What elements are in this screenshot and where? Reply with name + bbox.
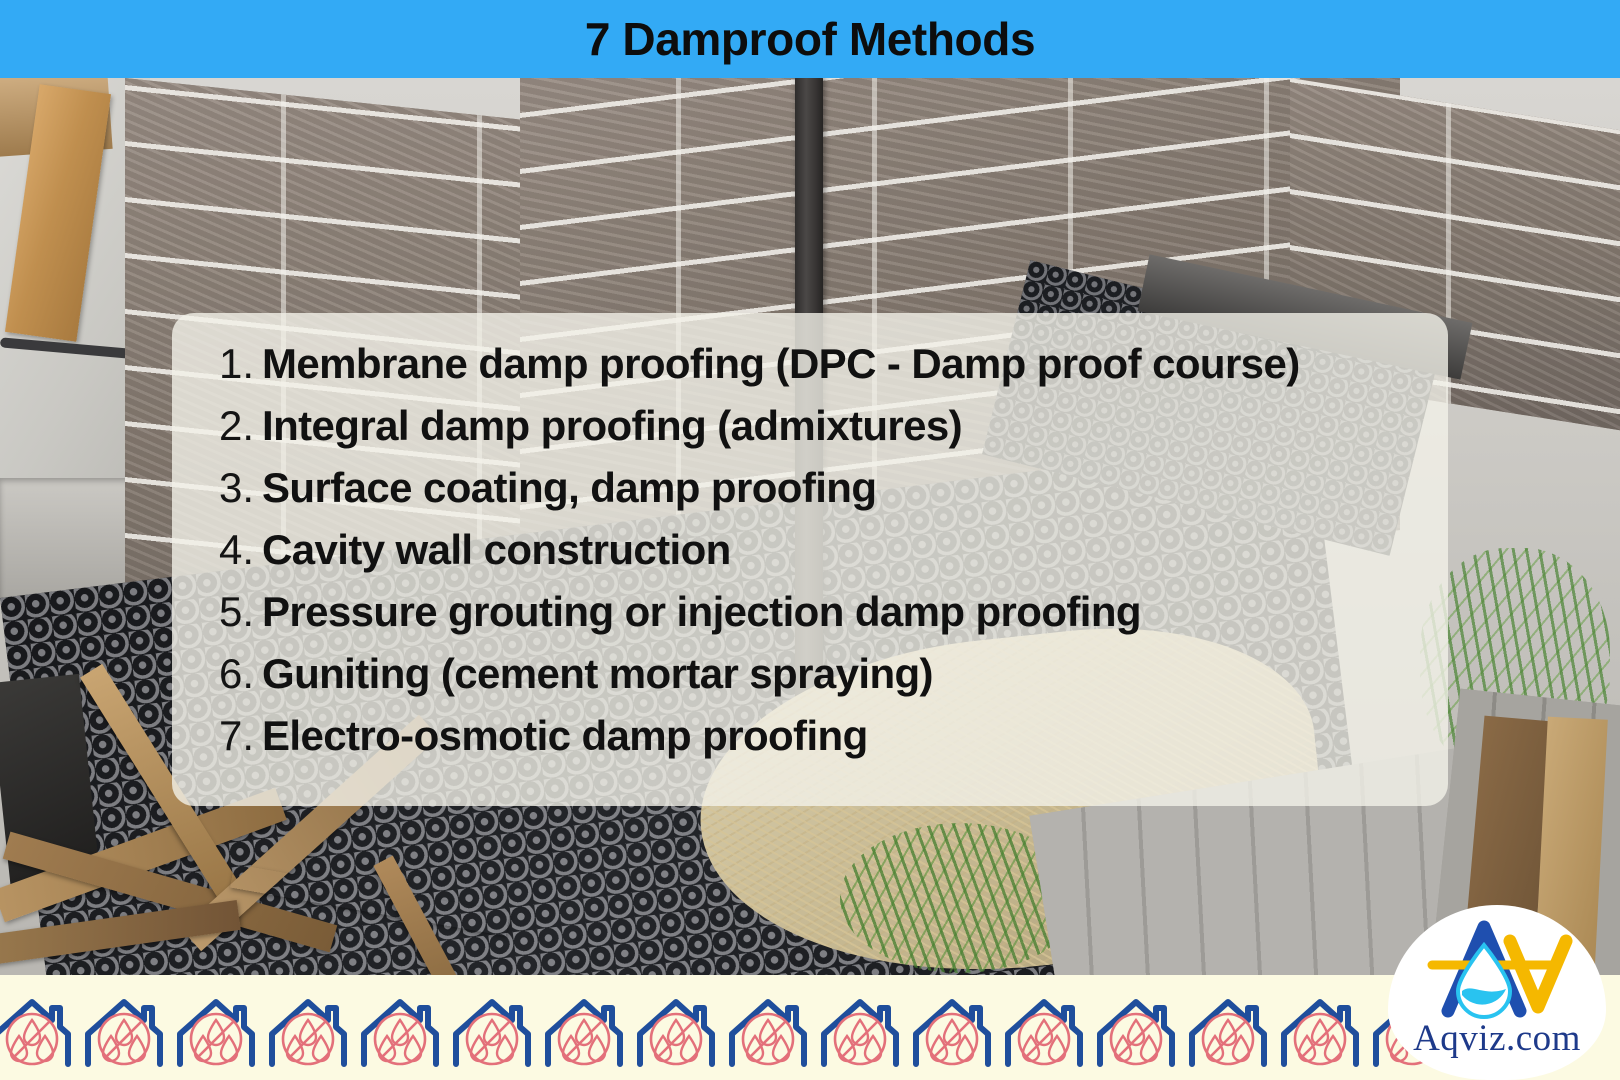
no-damp-house-glyph <box>1182 984 1274 1072</box>
no-damp-house-glyph <box>1090 984 1182 1072</box>
no-damp-house-icon <box>814 984 906 1072</box>
logo-svg <box>1406 911 1590 1019</box>
no-damp-house-glyph <box>1274 984 1366 1072</box>
list-item: 2.Integral damp proofing (admixtures) <box>206 405 1408 467</box>
list-item-label: Electro-osmotic damp proofing <box>262 715 868 757</box>
footer-strip <box>0 975 1620 1080</box>
no-damp-house-icon <box>630 984 722 1072</box>
no-damp-house-icon <box>1182 984 1274 1072</box>
aqviz-monogram-icon <box>1406 911 1590 1019</box>
list-item-number: 1. <box>206 343 262 385</box>
no-damp-house-icon <box>354 984 446 1072</box>
list-item-label: Pressure grouting or injection damp proo… <box>262 591 1141 633</box>
no-damp-house-icon <box>446 984 538 1072</box>
title-banner: 7 Damproof Methods <box>0 0 1620 78</box>
infographic-poster: 7 Damproof Methods 1.Membrane damp proof… <box>0 0 1620 1080</box>
no-damp-house-glyph <box>0 984 78 1072</box>
list-item-label: Membrane damp proofing (DPC - Damp proof… <box>262 343 1300 385</box>
list-item: 3.Surface coating, damp proofing <box>206 467 1408 529</box>
no-damp-house-glyph <box>354 984 446 1072</box>
brand-logo[interactable]: Aqviz.com <box>1388 905 1606 1080</box>
no-damp-house-icon <box>1090 984 1182 1072</box>
list-item: 7.Electro-osmotic damp proofing <box>206 715 1408 777</box>
list-item: 4.Cavity wall construction <box>206 529 1408 591</box>
no-damp-house-icon <box>998 984 1090 1072</box>
list-item: 1.Membrane damp proofing (DPC - Damp pro… <box>206 343 1408 405</box>
no-damp-house-icon <box>262 984 354 1072</box>
no-damp-house-glyph <box>78 984 170 1072</box>
no-damp-house-glyph <box>262 984 354 1072</box>
no-damp-house-glyph <box>538 984 630 1072</box>
list-item: 5.Pressure grouting or injection damp pr… <box>206 591 1408 653</box>
no-damp-house-icon <box>0 984 78 1072</box>
list-item-number: 7. <box>206 715 262 757</box>
no-damp-house-glyph <box>446 984 538 1072</box>
methods-list-panel: 1.Membrane damp proofing (DPC - Damp pro… <box>172 313 1448 806</box>
list-item-label: Cavity wall construction <box>262 529 731 571</box>
list-item-number: 6. <box>206 653 262 695</box>
no-damp-house-glyph <box>998 984 1090 1072</box>
list-item-number: 2. <box>206 405 262 447</box>
list-item-number: 3. <box>206 467 262 509</box>
no-damp-house-glyph <box>814 984 906 1072</box>
list-item-label: Surface coating, damp proofing <box>262 467 876 509</box>
no-damp-house-icon <box>1274 984 1366 1072</box>
list-item-label: Integral damp proofing (admixtures) <box>262 405 962 447</box>
list-item: 6.Guniting (cement mortar spraying) <box>206 653 1408 715</box>
house-icon-strip <box>0 983 1620 1073</box>
no-damp-house-icon <box>78 984 170 1072</box>
list-item-number: 5. <box>206 591 262 633</box>
no-damp-house-icon <box>722 984 814 1072</box>
list-item-label: Guniting (cement mortar spraying) <box>262 653 933 695</box>
page-title: 7 Damproof Methods <box>585 16 1035 62</box>
list-item-number: 4. <box>206 529 262 571</box>
no-damp-house-glyph <box>906 984 998 1072</box>
logo-wordmark: Aqviz.com <box>1388 1017 1606 1060</box>
no-damp-house-icon <box>538 984 630 1072</box>
no-damp-house-icon <box>906 984 998 1072</box>
no-damp-house-glyph <box>722 984 814 1072</box>
no-damp-house-glyph <box>630 984 722 1072</box>
no-damp-house-glyph <box>170 984 262 1072</box>
no-damp-house-icon <box>170 984 262 1072</box>
